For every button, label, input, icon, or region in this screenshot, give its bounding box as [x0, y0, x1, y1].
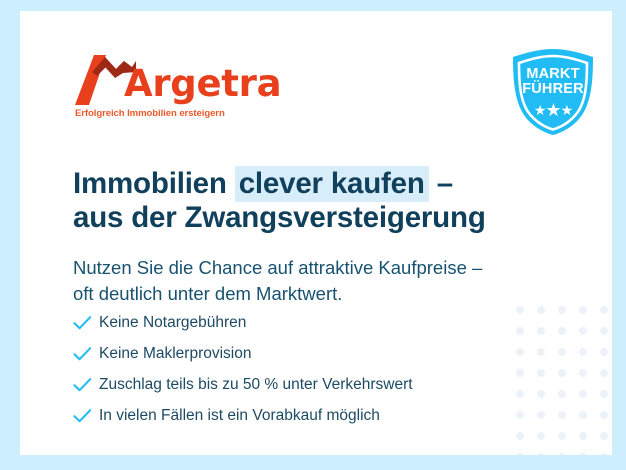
dot [600, 390, 608, 398]
dot [600, 453, 608, 456]
check-icon [73, 408, 99, 424]
dot [558, 411, 566, 419]
dot [558, 327, 566, 335]
dot [579, 306, 587, 314]
content-card: Argetra Erfolgreich Immobilien ersteiger… [20, 11, 612, 455]
list-item: Keine Notargebühren [73, 307, 533, 338]
dot [537, 453, 545, 456]
dot [579, 411, 587, 419]
dot [537, 348, 545, 356]
market-leader-badge: MARKT FÜHRER ★★★ [507, 47, 599, 137]
logo-tagline: Erfolgreich Immobilien ersteigern [75, 108, 225, 119]
dot [558, 369, 566, 377]
shield-badge-icon [507, 124, 599, 141]
logo-wordmark: Argetra [124, 65, 281, 102]
dot [600, 348, 608, 356]
benefit-list: Keine NotargebührenKeine Maklerprovision… [73, 307, 533, 431]
dot [558, 390, 566, 398]
dot [537, 432, 545, 440]
dot [579, 348, 587, 356]
list-item: Keine Maklerprovision [73, 338, 533, 369]
list-item-label: Keine Maklerprovision [99, 345, 252, 363]
dot [600, 369, 608, 377]
dot [579, 327, 587, 335]
dot [600, 432, 608, 440]
dot [516, 453, 524, 456]
subheadline-line-2: oft deutlich unter dem Marktwert. [73, 283, 342, 304]
dot [558, 348, 566, 356]
headline-line-2: aus der Zwangsversteigerung [73, 201, 486, 234]
list-item-label: In vielen Fällen ist ein Vorabkauf mögli… [99, 407, 380, 425]
dot [600, 306, 608, 314]
headline-part-1: Immobilien [73, 167, 235, 200]
subheadline-line-1: Nutzen Sie die Chance auf attraktive Kau… [73, 257, 482, 278]
dot [600, 327, 608, 335]
check-icon [73, 315, 99, 331]
dot [537, 390, 545, 398]
dot [516, 432, 524, 440]
headline-highlight: clever kaufen [235, 166, 429, 202]
list-item: In vielen Fällen ist ein Vorabkauf mögli… [73, 400, 533, 431]
list-item-label: Zuschlag teils bis zu 50 % unter Verkehr… [99, 376, 413, 394]
dot [600, 411, 608, 419]
dot [558, 453, 566, 456]
dot [537, 327, 545, 335]
promo-banner: Argetra Erfolgreich Immobilien ersteiger… [0, 0, 626, 470]
dot [579, 453, 587, 456]
list-item-label: Keine Notargebühren [99, 314, 246, 332]
page-title: Immobilien clever kaufen – aus der Zwang… [73, 167, 573, 235]
dot [579, 390, 587, 398]
headline-part-2: – [429, 167, 453, 200]
check-icon [73, 346, 99, 362]
dot [579, 369, 587, 377]
list-item: Zuschlag teils bis zu 50 % unter Verkehr… [73, 369, 533, 400]
dot [558, 432, 566, 440]
subheadline: Nutzen Sie die Chance auf attraktive Kau… [73, 255, 573, 308]
check-icon [73, 377, 99, 393]
dot [537, 369, 545, 377]
dot [537, 411, 545, 419]
argetra-logo[interactable]: Argetra Erfolgreich Immobilien ersteiger… [75, 55, 265, 121]
dot [579, 432, 587, 440]
